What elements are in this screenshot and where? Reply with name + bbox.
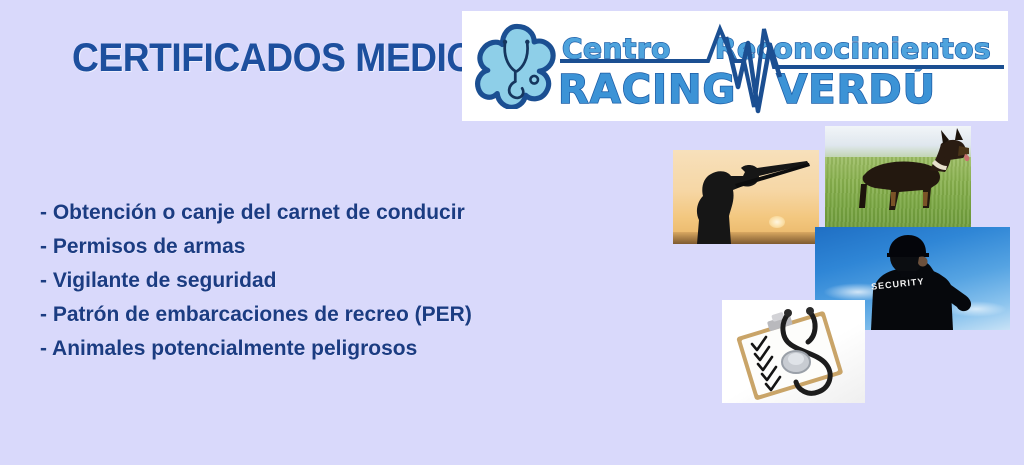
logo-reconocimientos-text: Reconocimientos [715, 32, 991, 65]
hunter-silhouette [673, 150, 819, 244]
list-item: - Vigilante de seguridad [40, 264, 560, 298]
logo-card: Centro Reconocimientos RACING VERDÚ [462, 11, 1008, 121]
list-item: - Animales potencialmente peligrosos [40, 332, 560, 366]
services-list: - Obtención o canje del carnet de conduc… [40, 196, 560, 366]
list-item: - Permisos de armas [40, 230, 560, 264]
logo-wordmark: Centro Reconocimientos RACING VERDÚ [558, 15, 1006, 119]
page-title: CERTIFICADOS MEDICOS [72, 36, 526, 81]
poster-canvas: CERTIFICADOS MEDICOS Centro Reconocimien… [0, 0, 1024, 465]
list-item: - Patrón de embarcaciones de recreo (PER… [40, 298, 560, 332]
logo-bottom-line: RACING VERDÚ [558, 65, 1006, 115]
logo-racing-text: RACING [558, 67, 736, 113]
clover-stethoscope-emblem [474, 23, 560, 109]
list-item: - Obtención o canje del carnet de conduc… [40, 196, 560, 230]
logo-centro-text: Centro [562, 32, 671, 65]
doberman-silhouette [825, 126, 971, 229]
clipboard-stethoscope-photo [722, 300, 865, 403]
clipboard-and-stethoscope-illustration [722, 300, 865, 403]
hunter-with-shotgun-photo [673, 150, 819, 244]
logo-top-line: Centro Reconocimientos [558, 29, 1006, 67]
logo-verdu-text: VERDÚ [776, 67, 936, 113]
doberman-dog-photo [825, 126, 971, 229]
